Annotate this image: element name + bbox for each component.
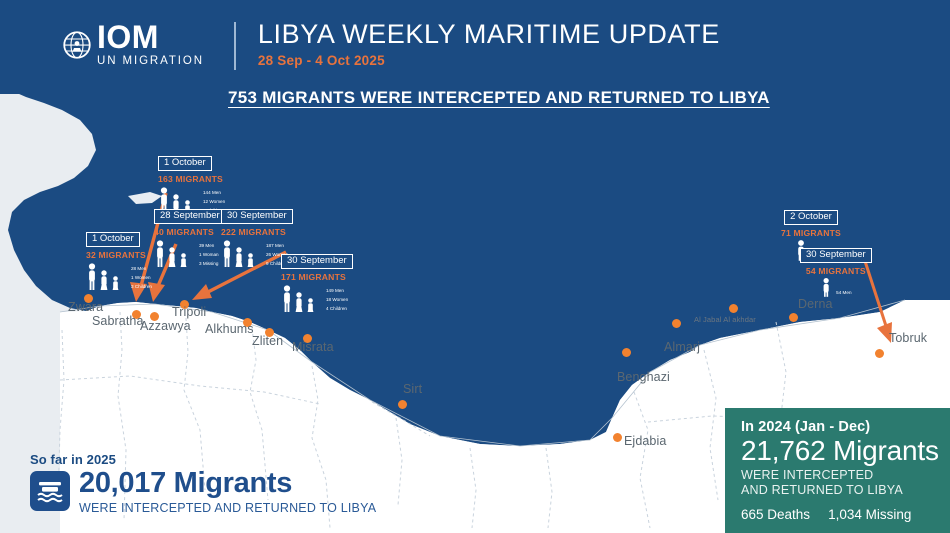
callout-zwara-1-oct: 1 October 32 MIGRANTS 28 Men 1 Women 3 C… <box>86 228 152 291</box>
headline-banner: 753 MIGRANTS WERE INTERCEPTED AND RETURN… <box>228 88 770 108</box>
callout-date: 30 September <box>221 209 293 225</box>
iom-wordmark-main: IOM <box>97 22 204 52</box>
callout-stat: 187 Men <box>266 244 288 249</box>
callout-date: 1 October <box>86 232 140 248</box>
panel-2025-eyebrow: So far in 2025 <box>30 452 376 467</box>
city-label-sirt: Sirt <box>403 382 422 396</box>
city-label-tobruk: Tobruk <box>889 331 927 345</box>
city-label-sabratha: Sabratha <box>92 314 144 328</box>
people-figures-icon <box>154 238 198 268</box>
panel-2024-deaths: 665 Deaths <box>741 507 810 522</box>
city-label-tripoli: Tripoli <box>172 305 206 319</box>
callout-stat: 18 Women <box>326 298 348 303</box>
city-dot-ejdabia <box>613 433 622 442</box>
city-label-benghazi: Benghazi <box>617 370 670 384</box>
city-label-azzawya: Azzawya <box>140 319 191 333</box>
panel-2025-stats: So far in 2025 20,017 Migrants WERE INTE… <box>30 452 376 515</box>
people-figures-icon <box>281 283 325 313</box>
callout-sabratha-28-sep: 28 September 40 MIGRANTS 39 Men 1 Woman … <box>154 205 226 268</box>
callout-total: 163 MIGRANTS <box>158 174 225 184</box>
city-label-al-jabal-al-akhdar: Al Jabal Al akhdar <box>694 315 756 324</box>
people-figures-icon <box>221 238 265 268</box>
callout-total: 171 MIGRANTS <box>281 272 353 282</box>
infographic-root: Zwara Sabratha Azzawya Tripoli Alkhums Z… <box>0 0 950 533</box>
city-dot-benghazi <box>622 348 631 357</box>
city-dot-derna <box>789 313 798 322</box>
callout-stat: 54 Men <box>836 291 851 296</box>
header-divider <box>234 22 236 70</box>
callout-total: 32 MIGRANTS <box>86 250 152 260</box>
panel-2024-caption-line2: AND RETURNED TO LIBYA <box>741 483 950 498</box>
boat-icon <box>30 471 70 511</box>
people-figures-icon <box>820 277 835 297</box>
panel-2024-caption: WERE INTERCEPTED AND RETURNED TO LIBYA <box>741 468 950 499</box>
callout-date: 28 September <box>154 209 226 225</box>
panel-2024-number: 21,762 Migrants <box>741 436 950 466</box>
callout-stat: 1 Women <box>131 276 152 281</box>
city-label-alkhums: Alkhums <box>205 322 254 336</box>
city-label-ejdabia: Ejdabia <box>624 434 666 448</box>
iom-logo: IOM UN MIGRATION <box>62 18 204 68</box>
callout-stat: 28 Men <box>131 267 152 272</box>
city-label-zwara: Zwara <box>68 300 103 314</box>
callout-stat: 149 Men <box>326 289 348 294</box>
panel-2024-missing: 1,034 Missing <box>828 507 911 522</box>
callout-tripoli-30-sep: 30 September 171 MIGRANTS 149 Men 18 Wom… <box>281 250 353 313</box>
panel-2025-caption: WERE INTERCEPTED AND RETURNED TO LIBYA <box>79 501 376 515</box>
city-dot-tobruk <box>875 349 884 358</box>
people-figures-icon <box>86 261 130 291</box>
callout-total: 40 MIGRANTS <box>154 227 226 237</box>
boat-glyph <box>30 471 70 511</box>
globe-icon <box>62 30 92 60</box>
header-band: IOM UN MIGRATION LIBYA WEEKLY MARITIME U… <box>0 0 950 84</box>
city-dot-almarj <box>672 319 681 328</box>
city-label-misrata: Misrata <box>292 340 334 354</box>
callout-total: 54 MIGRANTS <box>800 266 872 276</box>
callout-date: 30 September <box>281 254 353 270</box>
callout-date: 2 October <box>784 210 838 226</box>
callout-total: 71 MIGRANTS <box>781 228 841 238</box>
city-label-derna: Derna <box>798 297 833 311</box>
panel-2024-stats: In 2024 (Jan - Dec) 21,762 Migrants WERE… <box>725 408 950 533</box>
callout-stat: 3 Children <box>131 285 152 290</box>
callout-date: 30 September <box>800 248 872 264</box>
city-label-almarj: Almarj <box>664 340 700 354</box>
panel-2024-footer: 665 Deaths 1,034 Missing <box>741 507 950 522</box>
city-label-zliten: Zliten <box>252 334 283 348</box>
panel-2024-caption-line1: WERE INTERCEPTED <box>741 468 950 483</box>
callout-stat: 4 Children <box>326 307 348 312</box>
callout-stat: 3 Missing <box>199 262 219 267</box>
panel-2024-eyebrow: In 2024 (Jan - Dec) <box>741 419 950 435</box>
date-range-label: 28 Sep - 4 Oct 2025 <box>258 53 720 68</box>
panel-2025-number: 20,017 Migrants <box>79 469 376 498</box>
city-dot-aljabal <box>729 304 738 313</box>
callout-total: 222 MIGRANTS <box>221 227 293 237</box>
page-title: LIBYA WEEKLY MARITIME UPDATE <box>258 20 720 50</box>
city-dot-sirt <box>398 400 407 409</box>
iom-wordmark-sub: UN MIGRATION <box>97 56 204 68</box>
callout-stat: 39 Men <box>199 244 219 249</box>
callout-tobruk-30-sep: 30 September 54 MIGRANTS 54 Men <box>800 244 872 297</box>
callout-stat: 1 Woman <box>199 253 219 258</box>
callout-date: 1 October <box>158 156 212 172</box>
callout-stat: 144 Men <box>203 191 225 196</box>
